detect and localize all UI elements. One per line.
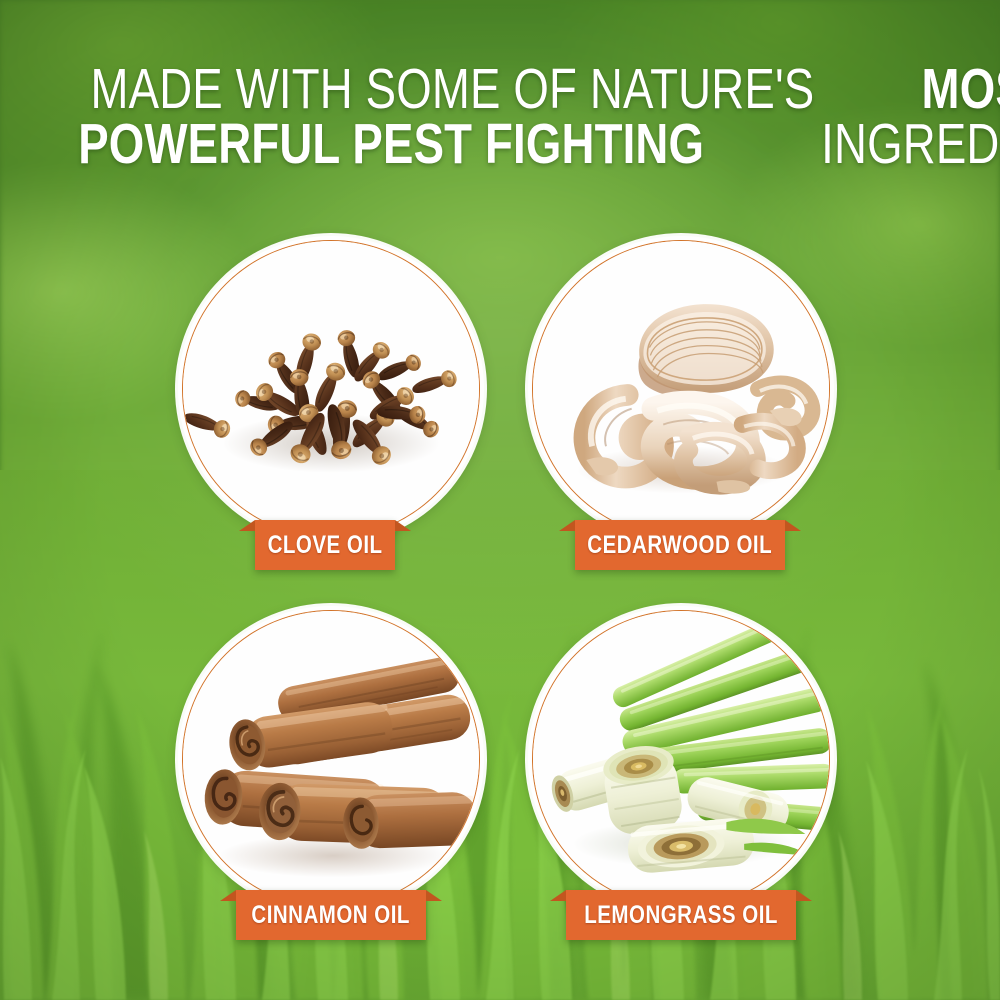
banner-notch-right — [395, 520, 411, 531]
ingredient-label-clove: CLOVE OIL — [268, 531, 383, 560]
ingredients-infographic: MADE WITH SOME OF NATURE'S MOST POWERFUL… — [0, 0, 1000, 1000]
clove-buds-illustration — [183, 241, 479, 537]
cinnamon-sticks-illustration — [183, 611, 479, 907]
ingredient-card-cedarwood[interactable]: CEDARWOOD OIL — [528, 236, 834, 542]
label-banner-clove: CLOVE OIL — [255, 520, 395, 570]
title-line-1: MADE WITH SOME OF NATURE'S MOST — [0, 62, 1000, 117]
title-line-1-bold: MOST — [921, 62, 1000, 117]
ingredient-label-cinnamon: CINNAMON OIL — [252, 901, 411, 930]
label-banner-cedarwood: CEDARWOOD OIL — [575, 520, 785, 570]
title-line-2-light: INGREDIENTS — [822, 117, 1000, 172]
ingredient-card-cinnamon[interactable]: CINNAMON OIL — [178, 606, 484, 912]
banner-notch-left — [559, 520, 575, 531]
ingredient-label-cedarwood: CEDARWOOD OIL — [588, 531, 773, 560]
cedarwood-shavings-illustration — [533, 241, 829, 537]
ingredient-card-lemongrass[interactable]: LEMONGRASS OIL — [528, 606, 834, 912]
banner-notch-left — [239, 520, 255, 531]
title-line-2: POWERFUL PEST FIGHTING INGREDIENTS — [0, 117, 1000, 172]
title-line-1-light: MADE WITH SOME OF NATURE'S — [90, 62, 814, 117]
banner-notch-right — [796, 890, 812, 901]
label-banner-lemongrass: LEMONGRASS OIL — [566, 890, 796, 940]
label-banner-cinnamon: CINNAMON OIL — [236, 890, 426, 940]
banner-notch-right — [785, 520, 801, 531]
lemongrass-stalks-illustration — [533, 611, 829, 907]
page-title: MADE WITH SOME OF NATURE'S MOST POWERFUL… — [0, 62, 1000, 171]
title-line-2-bold: POWERFUL PEST FIGHTING — [78, 117, 704, 172]
banner-notch-left — [220, 890, 236, 901]
ingredient-card-clove[interactable]: CLOVE OIL — [178, 236, 484, 542]
banner-notch-right — [426, 890, 442, 901]
banner-notch-left — [550, 890, 566, 901]
ingredient-label-lemongrass: LEMONGRASS OIL — [584, 901, 778, 930]
